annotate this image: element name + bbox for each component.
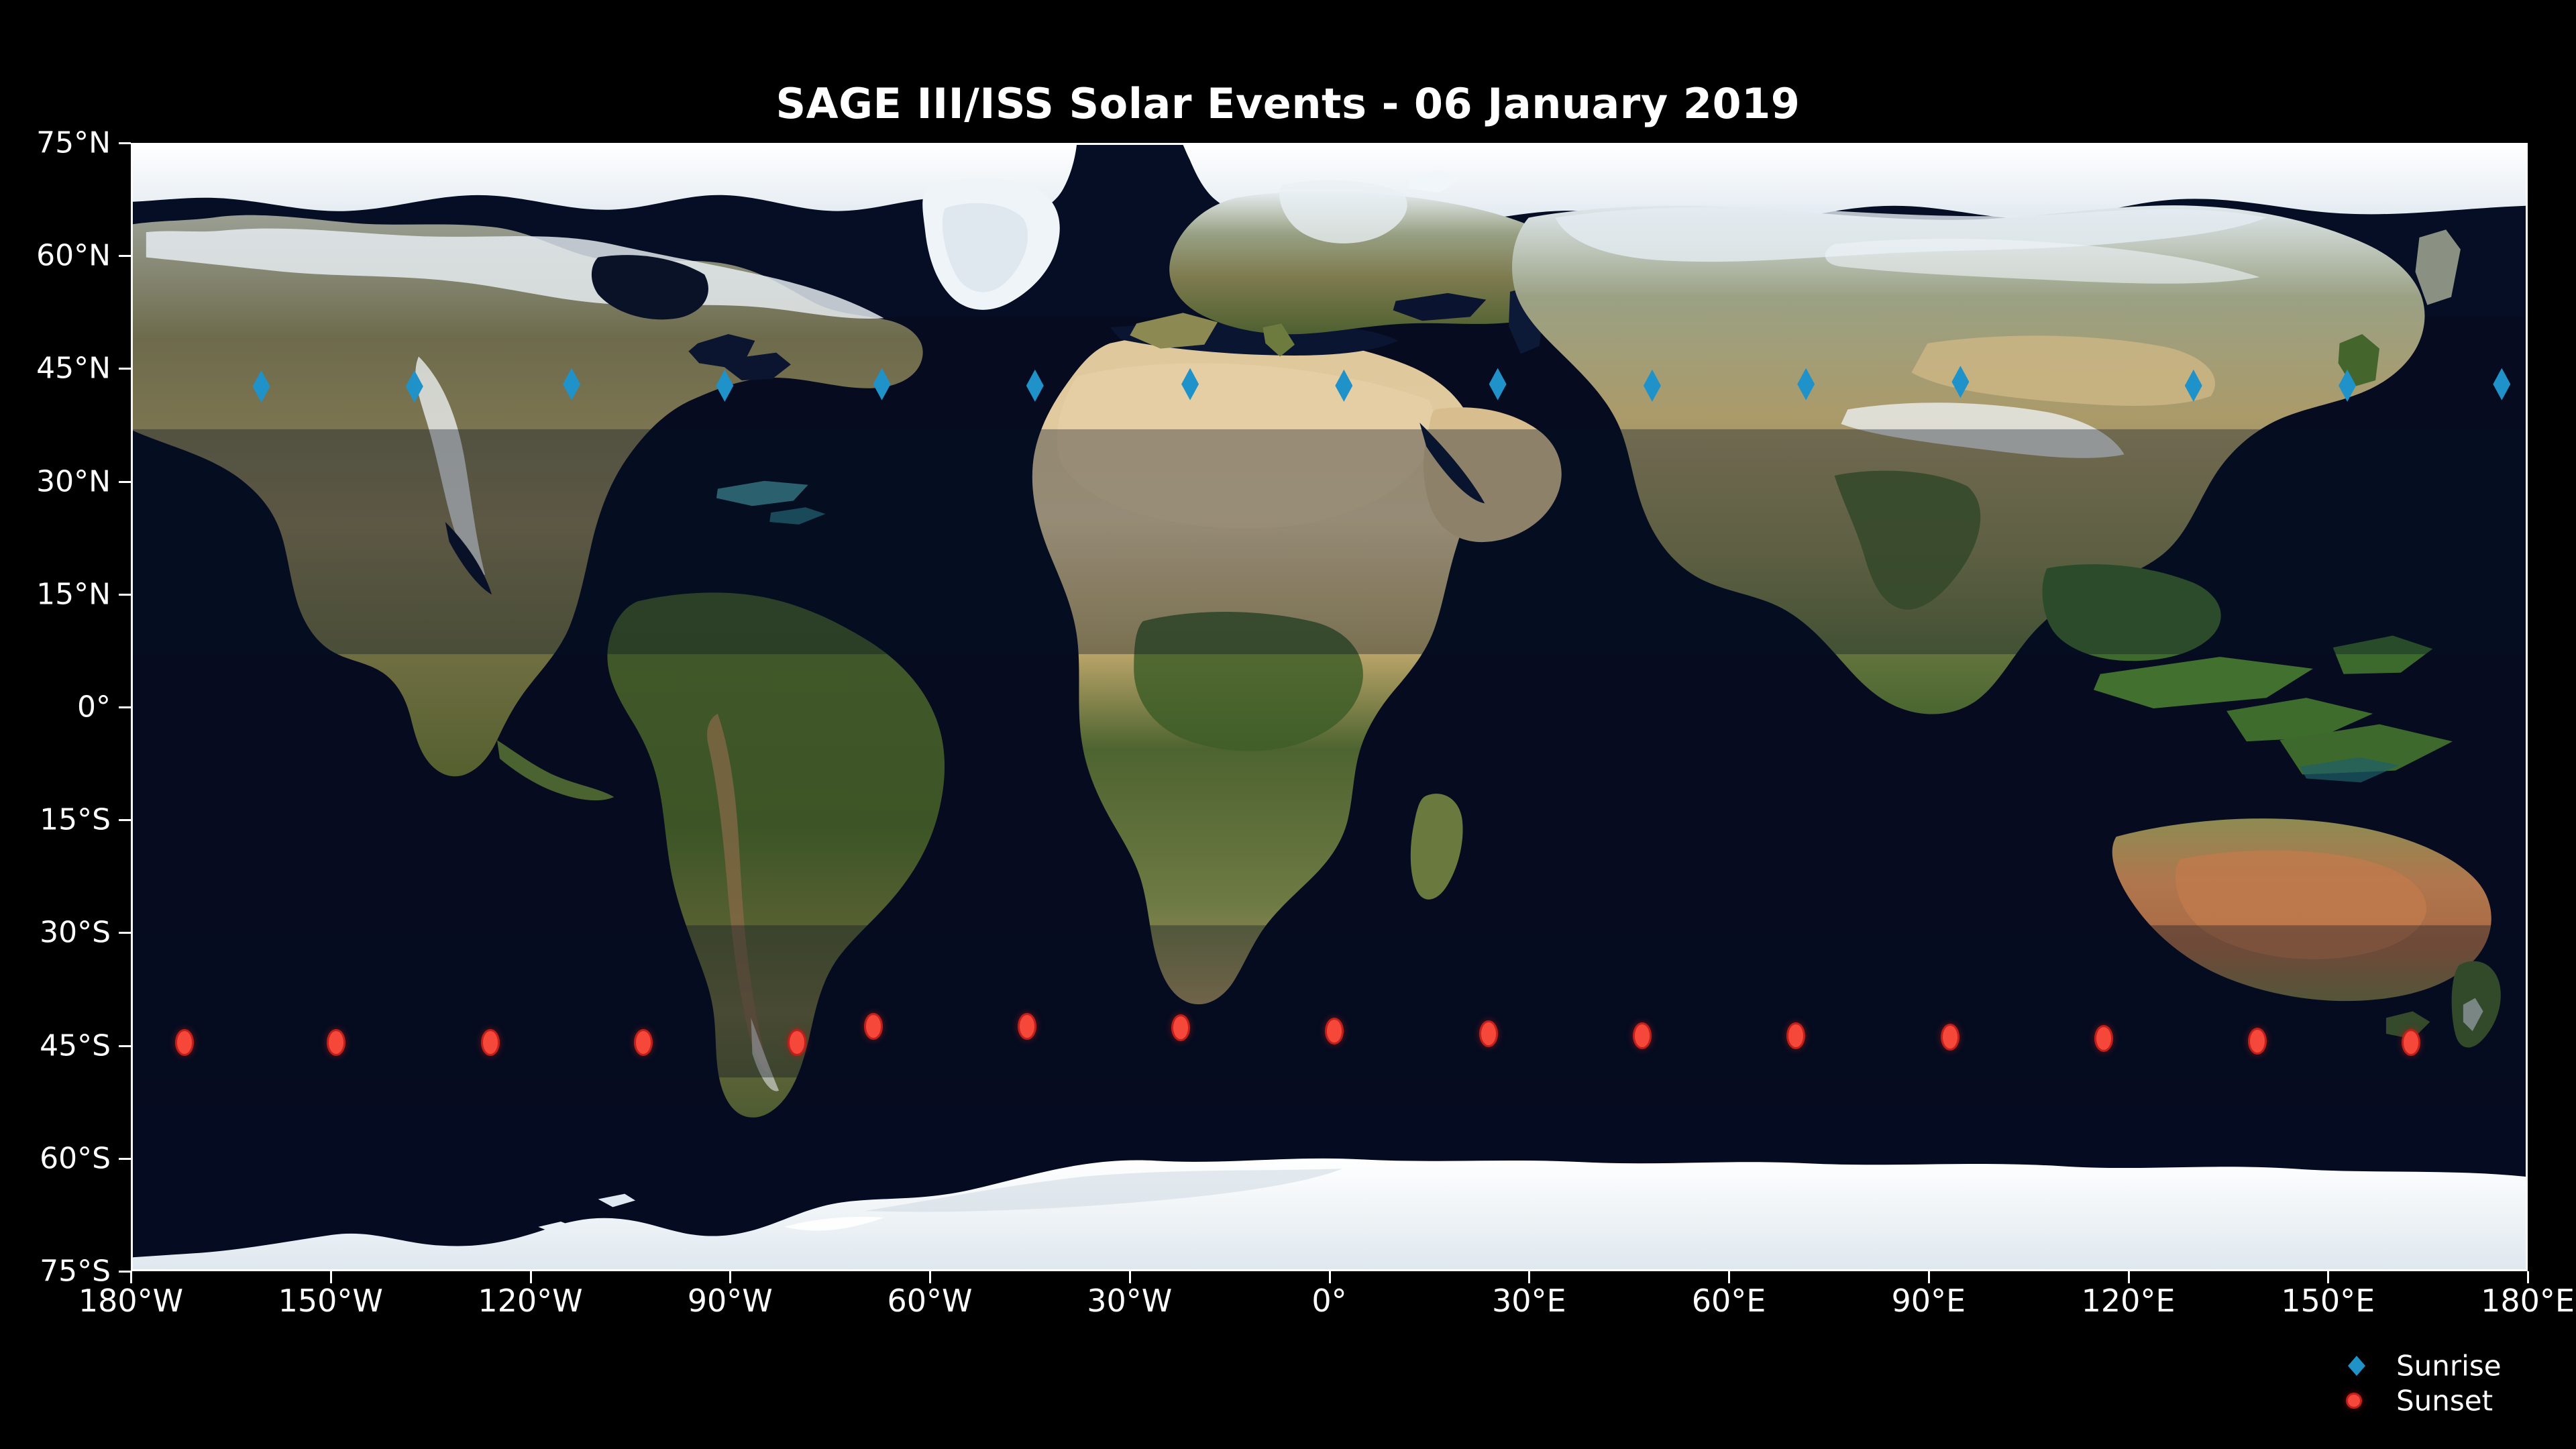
- figure-canvas: SAGE III/ISS Solar Events - 06 January 2…: [0, 0, 2576, 1449]
- marker-sunset[interactable]: [1020, 1015, 1034, 1038]
- y-tick-mark: [119, 594, 131, 596]
- marker-sunset[interactable]: [1327, 1020, 1342, 1042]
- marker-sunset[interactable]: [2096, 1027, 2111, 1050]
- marker-sunset[interactable]: [1943, 1026, 1957, 1049]
- x-tick-mark: [1129, 1271, 1131, 1283]
- legend: Sunrise Sunset: [2348, 1348, 2569, 1418]
- x-tick-mark: [1329, 1271, 1331, 1283]
- y-tick-mark: [119, 368, 131, 370]
- sunset-circle-icon: [2348, 1395, 2360, 1407]
- x-tick-label: 120°W: [478, 1283, 582, 1319]
- x-tick-mark: [330, 1271, 332, 1283]
- y-tick-label: 30°N: [0, 464, 111, 498]
- x-tick-label: 90°W: [688, 1283, 773, 1319]
- y-tick-mark: [119, 142, 131, 144]
- x-tick-label: 30°W: [1087, 1283, 1172, 1319]
- x-tick-label: 180°W: [78, 1283, 183, 1319]
- y-tick-mark: [119, 255, 131, 257]
- x-tick-mark: [530, 1271, 532, 1283]
- legend-label-sunset: Sunset: [2396, 1385, 2493, 1417]
- y-tick-label: 0°: [0, 690, 111, 724]
- marker-sunset[interactable]: [866, 1015, 881, 1038]
- x-tick-label: 180°E: [2481, 1283, 2575, 1319]
- marker-sunset[interactable]: [177, 1031, 192, 1054]
- legend-item-sunrise[interactable]: Sunrise: [2348, 1348, 2569, 1383]
- y-tick-mark: [119, 706, 131, 708]
- y-tick-mark: [119, 819, 131, 821]
- x-tick-label: 60°W: [887, 1283, 972, 1319]
- y-tick-label: 45°S: [0, 1028, 111, 1063]
- x-tick-mark: [1728, 1271, 1730, 1283]
- x-tick-mark: [2527, 1271, 2529, 1283]
- x-tick-mark: [1528, 1271, 1530, 1283]
- marker-sunset[interactable]: [2404, 1031, 2418, 1054]
- x-tick-label: 30°E: [1492, 1283, 1566, 1319]
- marker-sunset[interactable]: [1481, 1022, 1496, 1045]
- x-tick-label: 90°E: [1891, 1283, 1966, 1319]
- world-basemap: [133, 145, 2526, 1269]
- marker-sunset[interactable]: [483, 1031, 498, 1054]
- y-tick-label: 15°S: [0, 803, 111, 837]
- x-tick-mark: [929, 1271, 931, 1283]
- marker-sunset[interactable]: [1173, 1016, 1188, 1039]
- marker-sunset[interactable]: [1788, 1024, 1803, 1047]
- x-tick-mark: [2327, 1271, 2329, 1283]
- marker-sunset[interactable]: [636, 1031, 651, 1054]
- legend-item-sunset[interactable]: Sunset: [2348, 1383, 2569, 1418]
- map-plot-area[interactable]: [131, 143, 2528, 1271]
- x-tick-label: 0°: [1311, 1283, 1346, 1319]
- x-tick-label: 120°E: [2082, 1283, 2176, 1319]
- y-tick-mark: [119, 1045, 131, 1047]
- y-tick-mark: [119, 1271, 131, 1273]
- x-tick-mark: [729, 1271, 731, 1283]
- x-tick-label: 150°W: [278, 1283, 383, 1319]
- x-tick-mark: [2128, 1271, 2130, 1283]
- marker-sunset[interactable]: [2250, 1030, 2265, 1053]
- x-tick-mark: [1928, 1271, 1930, 1283]
- y-tick-mark: [119, 1158, 131, 1160]
- legend-label-sunrise: Sunrise: [2396, 1350, 2502, 1383]
- y-tick-label: 60°S: [0, 1141, 111, 1175]
- page-title: SAGE III/ISS Solar Events - 06 January 2…: [0, 79, 2576, 128]
- sunrise-diamond-icon: [2348, 1356, 2365, 1376]
- marker-sunset[interactable]: [790, 1031, 804, 1054]
- x-tick-label: 60°E: [1692, 1283, 1766, 1319]
- y-tick-label: 60°N: [0, 239, 111, 273]
- y-tick-mark: [119, 932, 131, 934]
- y-tick-mark: [119, 481, 131, 483]
- y-tick-label: 30°S: [0, 916, 111, 950]
- y-tick-label: 45°N: [0, 352, 111, 386]
- x-tick-mark: [130, 1271, 132, 1283]
- marker-sunset[interactable]: [329, 1031, 343, 1054]
- x-tick-label: 150°E: [2281, 1283, 2375, 1319]
- y-tick-label: 75°N: [0, 126, 111, 160]
- y-tick-label: 15°N: [0, 577, 111, 611]
- marker-sunset[interactable]: [1635, 1024, 1650, 1047]
